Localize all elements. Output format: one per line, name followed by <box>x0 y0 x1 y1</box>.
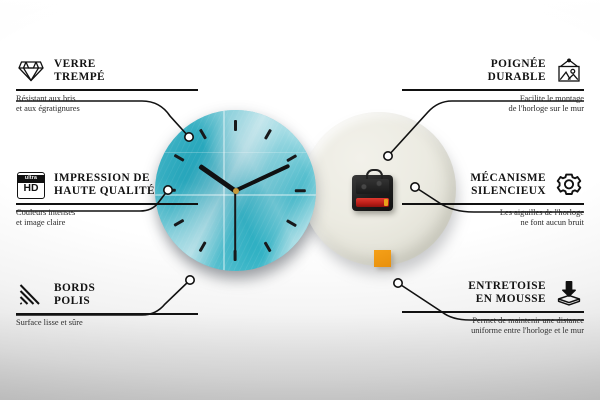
diamond-icon <box>16 56 46 86</box>
feature-entretoise-en-mousse: ENTRETOISE EN MOUSSE Permet de maintenir… <box>402 278 584 337</box>
feature-description: Résistant aux bris et aux égratignures <box>16 94 198 115</box>
divider <box>16 313 198 315</box>
feature-title: IMPRESSION DE HAUTE QUALITÉ <box>54 172 155 199</box>
divider <box>402 311 584 313</box>
feature-description: Surface lisse et sûre <box>16 318 198 329</box>
divider <box>402 203 584 205</box>
feature-description: Les aiguilles de l'horloge ne font aucun… <box>402 208 584 229</box>
feature-title: ENTRETOISE EN MOUSSE <box>468 280 546 307</box>
feature-verre-trempe: VERRE TREMPÉ Résistant aux bris et aux é… <box>16 56 198 115</box>
infographic-canvas: VERRE TREMPÉ Résistant aux bris et aux é… <box>0 0 600 400</box>
hd-badge-main-label: HD <box>18 183 44 195</box>
feature-header: MÉCANISME SILENCIEUX <box>402 170 584 200</box>
anchor-dot-poignee <box>384 152 392 160</box>
gear-icon <box>554 170 584 200</box>
feature-description: Couleurs intenses et image claire <box>16 208 198 229</box>
feature-description: Permet de maintenir une distance uniform… <box>402 316 584 337</box>
anchor-dot-entretoise <box>394 279 402 287</box>
feature-header: POIGNÉE DURABLE <box>402 56 584 86</box>
polished-edge-icon <box>16 280 46 310</box>
anchor-dot-verre <box>185 133 193 141</box>
feature-poignee-durable: POIGNÉE DURABLE Facilite le montage de l… <box>402 56 584 115</box>
feature-impression-haute-qualite: ultra HD IMPRESSION DE HAUTE QUALITÉ Cou… <box>16 170 198 229</box>
divider <box>402 89 584 91</box>
feature-description: Facilite le montage de l'horloge sur le … <box>402 94 584 115</box>
hd-badge-top-label: ultra <box>18 175 44 182</box>
feature-title: MÉCANISME SILENCIEUX <box>470 172 546 199</box>
feature-title: VERRE TREMPÉ <box>54 58 105 85</box>
divider <box>16 203 198 205</box>
feature-mecanisme-silencieux: MÉCANISME SILENCIEUX Les aiguilles de l'… <box>402 170 584 229</box>
feature-header: BORDS POLIS <box>16 280 198 310</box>
feature-header: ENTRETOISE EN MOUSSE <box>402 278 584 308</box>
ultra-hd-badge-icon: ultra HD <box>16 170 46 200</box>
foam-spacer-icon <box>554 278 584 308</box>
divider <box>16 89 198 91</box>
hanging-frame-icon <box>554 56 584 86</box>
feature-header: ultra HD IMPRESSION DE HAUTE QUALITÉ <box>16 170 198 200</box>
feature-bords-polis: BORDS POLIS Surface lisse et sûre <box>16 280 198 328</box>
feature-title: BORDS POLIS <box>54 282 95 309</box>
feature-title: POIGNÉE DURABLE <box>488 58 546 85</box>
feature-header: VERRE TREMPÉ <box>16 56 198 86</box>
